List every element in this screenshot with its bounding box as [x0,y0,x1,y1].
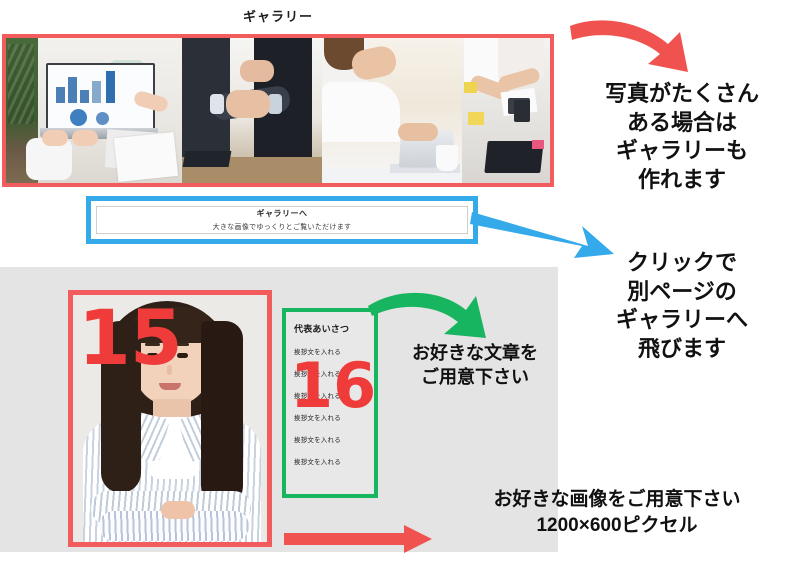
photo1-plant-leaves [8,44,34,124]
annotation-text-note: お好きな文章をご用意下さい [382,342,568,390]
gallery-link-subtitle: 大きな画像でゆっくりとご覧いただけます [213,222,352,232]
photo2-laptop [183,151,232,167]
photo1-chart-bar [92,81,101,103]
photo3-hands [398,123,438,141]
greeting-line: 挨拶文を入れる [294,390,366,400]
gallery-photo-3[interactable] [322,38,462,183]
greeting-line: 挨拶文を入れる [294,346,366,356]
gallery-link-title: ギャラリーへ [257,208,308,219]
gallery-section-title: ギャラリー [0,6,556,25]
red-straight-arrow-icon [284,524,434,554]
portrait-hand [161,501,195,519]
photo1-chart-bar [80,90,89,103]
gallery-photo-2[interactable] [182,38,322,183]
photo2-raised-hand [240,60,274,82]
greeting-title: 代表あいさつ [294,322,366,335]
green-curved-arrow-icon [366,284,496,346]
portrait-hair-right [201,321,243,507]
badge-number-15: 15 [78,300,182,376]
gallery-highlight-frame [2,34,554,187]
greeting-line: 挨拶文を入れる [294,368,366,378]
greeting-highlight-box: 代表あいさつ 挨拶文を入れる 挨拶文を入れる 挨拶文を入れる 挨拶文を入れる 挨… [282,308,378,498]
photo4-sticky-note [468,112,484,125]
annotation-gallery-note: 写真がたくさんある場合はギャラリーも作れます [566,80,798,194]
gallery-image-strip [6,38,550,183]
photo2-cuff [210,94,224,114]
red-curved-arrow-icon [568,14,708,80]
photo1-pie-chart [96,112,109,125]
photo1-chart-bar [106,71,115,103]
photo1-paper [114,132,178,182]
greeting-line: 挨拶文を入れる [294,434,366,444]
gallery-photo-1[interactable] [6,38,182,183]
photo1-hand [42,130,68,146]
photo4-sticky-note [464,82,477,93]
greeting-line: 挨拶文を入れる [294,412,366,422]
photo4-pink-object [532,140,544,149]
photo2-handshake [226,90,270,118]
photo1-chart-bar [68,77,77,103]
photo4-phone [514,100,530,122]
greeting-line: 挨拶文を入れる [294,456,366,466]
photo3-mug [436,145,458,171]
annotation-click-note: クリックで別ページのギャラリーへ飛びます [566,249,798,363]
gallery-photo-4[interactable] [462,38,550,183]
page-root: ギャラリー [0,0,800,577]
photo3-shirt [322,82,400,142]
photo1-hand [72,130,98,146]
photo2-cuff [268,94,282,114]
gallery-link-highlight-frame: ギャラリーへ 大きな画像でゆっくりとご覧いただけます [86,196,478,244]
gallery-link-button[interactable]: ギャラリーへ 大きな画像でゆっくりとご覧いただけます [96,206,468,234]
annotation-image-note: お好きな画像をご用意下さい1200×600ピクセル [436,487,798,539]
photo1-pie-chart [70,109,87,126]
portrait-mouth [159,383,181,390]
photo1-chart-bar [56,87,65,103]
